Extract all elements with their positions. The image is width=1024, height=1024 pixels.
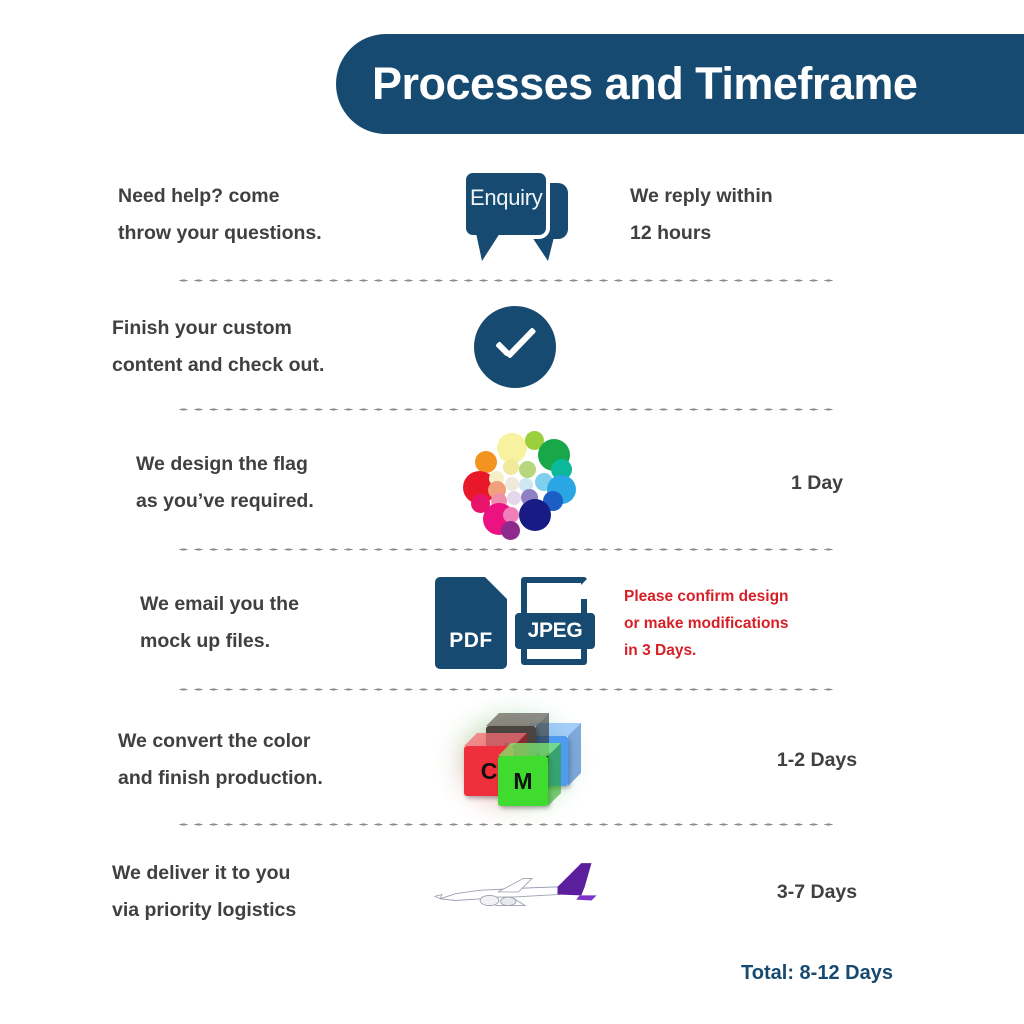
color-wheel-dot-16	[507, 491, 521, 505]
divider-1	[176, 279, 836, 282]
color-wheel-dot-6	[519, 461, 536, 478]
step-4-icon-cell: PDF JPEG	[420, 577, 610, 669]
step-6-description: We deliver it to you via priority logist…	[0, 855, 420, 929]
divider-4	[176, 688, 836, 691]
step-1-line-1: Need help? come	[118, 178, 420, 215]
color-wheel-dot-3	[475, 451, 497, 473]
divider-5	[176, 823, 836, 826]
pdf-fold-corner	[485, 577, 507, 599]
cube-m: M	[498, 756, 548, 806]
step-1-line-2: throw your questions.	[118, 215, 420, 252]
step-2-line-2: content and check out.	[112, 347, 420, 384]
step-row-4: We email you the mock up files. PDF JPEG…	[0, 574, 1024, 672]
step-4-description: We email you the mock up files.	[0, 586, 420, 660]
step-3-timeframe: 1 Day	[610, 465, 1024, 502]
color-wheel-dot-5	[503, 459, 519, 475]
step-5-description: We convert the color and finish producti…	[0, 723, 420, 797]
jpeg-label: JPEG	[528, 619, 583, 643]
pdf-label: PDF	[449, 629, 493, 653]
color-wheel-icon	[461, 431, 569, 535]
step-5-timeframe: 1-2 Days	[610, 742, 1024, 779]
step-1-description: Need help? come throw your questions.	[0, 178, 420, 252]
step-3-icon-cell	[420, 431, 610, 535]
step-2-icon-cell	[420, 306, 610, 388]
step-2-description: Finish your custom content and check out…	[0, 310, 420, 384]
pdf-file-icon: PDF	[435, 577, 507, 669]
step-row-1: Need help? come throw your questions. En…	[0, 168, 1024, 262]
cmyk-cubes-icon: K Y C M	[456, 712, 574, 808]
step-row-3: We design the flag as you’ve required. 1…	[0, 434, 1024, 532]
step-row-6: We deliver it to you via priority logist…	[0, 845, 1024, 939]
step-row-5: We convert the color and finish producti…	[0, 712, 1024, 808]
cube-m-label: M	[513, 768, 532, 795]
jpeg-fold-corner	[567, 577, 589, 599]
step-4-line-2: mock up files.	[140, 623, 420, 660]
step-3-line-2: as you’ve required.	[136, 483, 420, 520]
step-5-line-1: We convert the color	[118, 723, 420, 760]
header-bar: Processes and Timeframe	[336, 34, 1024, 134]
pdf-jpeg-files-icon: PDF JPEG	[435, 577, 595, 669]
color-wheel-dot-21	[519, 499, 551, 531]
check-circle-icon	[474, 306, 556, 388]
step-6-right-line-1: 3-7 Days	[610, 874, 1024, 911]
enquiry-label: Enquiry	[470, 185, 543, 211]
step-1-icon-cell: Enquiry	[420, 169, 610, 261]
jpeg-label-band: JPEG	[515, 613, 595, 649]
step-6-timeframe: 3-7 Days	[610, 874, 1024, 911]
cube-m-side	[548, 743, 561, 806]
step-6-icon-cell	[420, 861, 610, 923]
step-3-description: We design the flag as you’ve required.	[0, 446, 420, 520]
color-wheel-dot-12	[505, 477, 519, 491]
step-4-line-1: We email you the	[140, 586, 420, 623]
cube-y-side	[568, 723, 581, 786]
step-4-right-line-2: or make modifications	[624, 610, 1024, 637]
step-3-right-line-1: 1 Day	[610, 465, 1024, 502]
step-5-right-line-1: 1-2 Days	[610, 742, 1024, 779]
divider-2	[176, 408, 836, 411]
step-5-line-2: and finish production.	[118, 760, 420, 797]
divider-3	[176, 548, 836, 551]
jpeg-file-icon: JPEG	[515, 577, 595, 669]
step-row-2: Finish your custom content and check out…	[0, 300, 1024, 394]
airplane-icon	[430, 861, 600, 923]
step-1-timeframe: We reply within 12 hours	[610, 178, 1024, 252]
step-4-warning: Please confirm design or make modificati…	[610, 583, 1024, 664]
step-2-line-1: Finish your custom	[112, 310, 420, 347]
step-6-line-1: We deliver it to you	[112, 855, 420, 892]
page-title: Processes and Timeframe	[372, 58, 917, 110]
step-1-right-line-1: We reply within	[630, 178, 1024, 215]
step-5-icon-cell: K Y C M	[420, 712, 610, 808]
step-6-line-2: via priority logistics	[112, 892, 420, 929]
step-4-right-line-3: in 3 Days.	[624, 637, 1024, 664]
step-4-right-line-1: Please confirm design	[624, 583, 1024, 610]
step-3-line-1: We design the flag	[136, 446, 420, 483]
color-wheel-dot-22	[501, 521, 520, 540]
enquiry-speech-bubbles-icon: Enquiry	[460, 169, 570, 261]
total-timeframe: Total: 8-12 Days	[610, 962, 1024, 985]
step-1-right-line-2: 12 hours	[630, 215, 1024, 252]
cube-c-label: C	[481, 758, 498, 785]
